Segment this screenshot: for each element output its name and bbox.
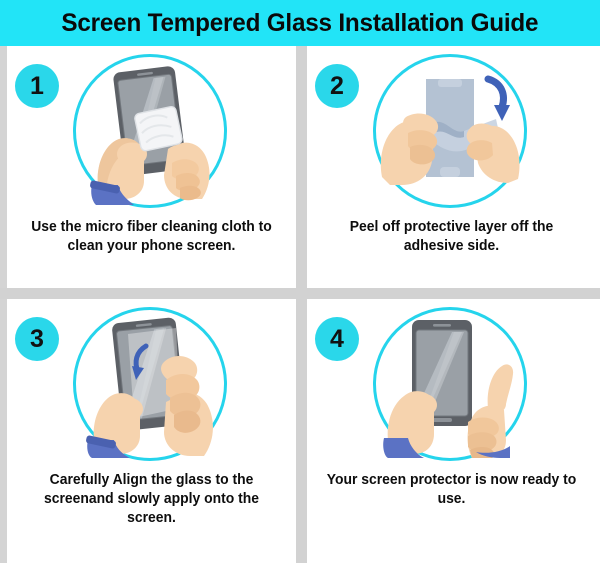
step-2-caption: Peel off protective layer off the adhesi… — [322, 218, 580, 256]
step-2-illustration-ring — [373, 54, 527, 208]
step-card-4: 4 — [307, 299, 596, 563]
step-3-number: 3 — [30, 327, 44, 352]
step-card-2: 2 — [307, 46, 596, 288]
installation-guide-page: Screen Tempered Glass Installation Guide… — [0, 0, 600, 563]
step-1-illustration-ring — [73, 54, 227, 208]
peel-direction-arrow — [488, 79, 510, 121]
step-card-3: 3 — [7, 299, 296, 563]
step-4-illustration-ring — [373, 307, 527, 461]
header-bar: Screen Tempered Glass Installation Guide — [0, 0, 600, 46]
hand-aligning-glass-onto-phone-screen-with-arrow-icon — [76, 310, 224, 458]
step-2-number: 2 — [330, 74, 344, 99]
vertical-divider — [296, 46, 307, 563]
page-title: Screen Tempered Glass Installation Guide — [62, 11, 539, 36]
step-4-caption: Your screen protector is now ready to us… — [322, 471, 580, 509]
horizontal-divider — [0, 288, 600, 299]
step-card-1: 1 — [7, 46, 296, 288]
step-1-number: 1 — [30, 74, 44, 99]
step-3-illustration-ring — [73, 307, 227, 461]
step-4-badge: 4 — [315, 317, 359, 361]
step-3-badge: 3 — [15, 317, 59, 361]
step-4-number: 4 — [330, 327, 344, 352]
two-hands-peeling-protective-film-with-arrow-icon — [376, 57, 524, 205]
left-edge-strip — [0, 46, 7, 563]
step-3-caption: Carefully Align the glass to the screena… — [22, 471, 280, 528]
step-1-caption: Use the micro fiber cleaning cloth to cl… — [22, 218, 280, 256]
step-2-badge: 2 — [315, 64, 359, 108]
hand-holding-phone-with-thumbs-up-icon — [376, 310, 524, 458]
hand-holding-phone-with-cleaning-cloth-icon — [76, 57, 224, 205]
step-1-badge: 1 — [15, 64, 59, 108]
